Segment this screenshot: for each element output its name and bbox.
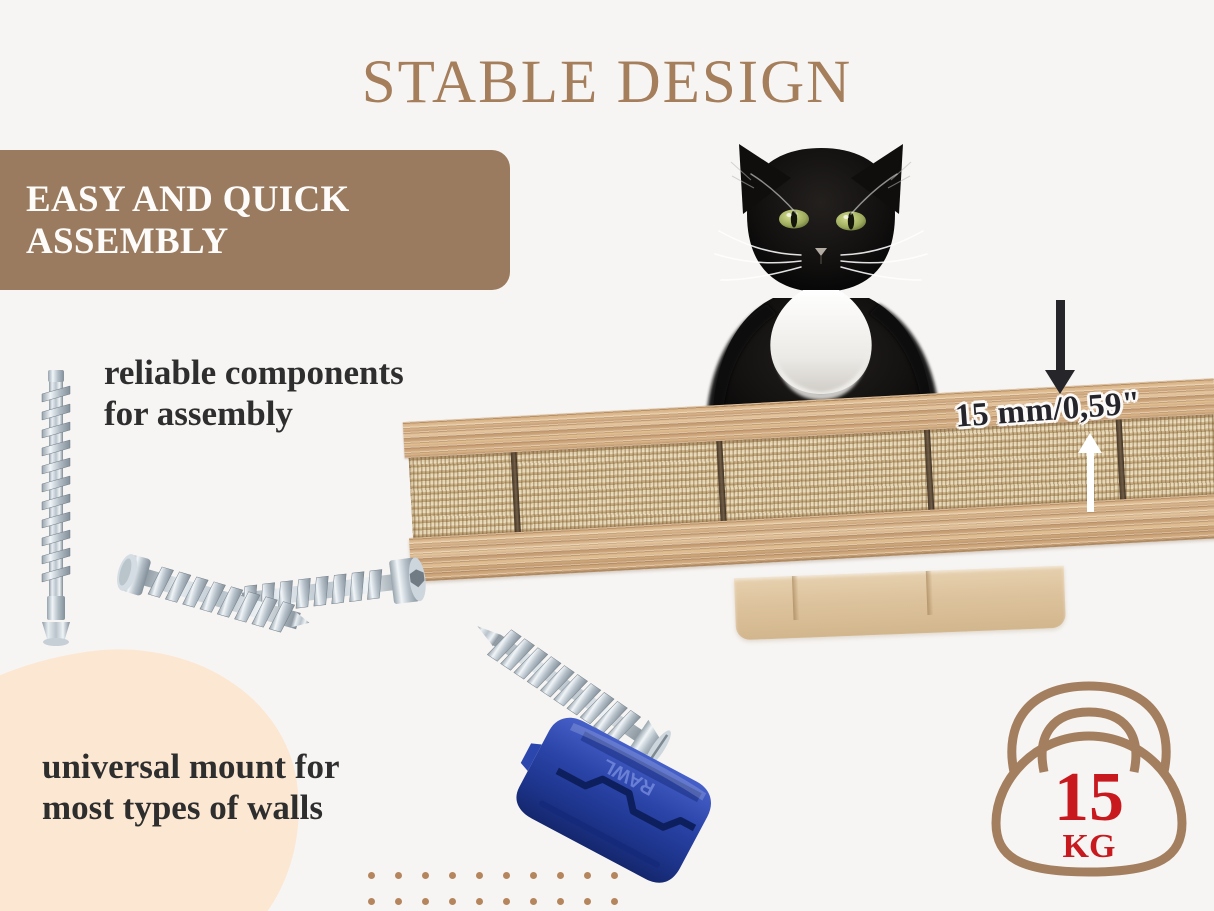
assembly-banner-text: EASY AND QUICK ASSEMBLY [26, 179, 350, 263]
dot [530, 898, 537, 905]
screw-horizontal-pan-head [93, 532, 319, 659]
product-infographic-poster: STABLE DESIGN EASY AND QUICK ASSEMBLY re… [0, 0, 1214, 911]
weight-capacity-badge: 15 KG [986, 668, 1192, 883]
dot [530, 872, 537, 879]
assembly-banner-line1: EASY AND QUICK [26, 179, 350, 220]
feature-caption-components-line2: for assembly [104, 394, 293, 433]
feature-caption-components: reliable components for assembly [104, 352, 404, 435]
dot [557, 872, 564, 879]
dot [395, 872, 402, 879]
assembly-banner: EASY AND QUICK ASSEMBLY [0, 150, 510, 290]
dot-grid-decoration [368, 872, 638, 911]
dot [584, 898, 591, 905]
dot [422, 872, 429, 879]
dot [476, 872, 483, 879]
dot [557, 898, 564, 905]
feature-caption-mount: universal mount for most types of walls [42, 746, 340, 829]
weight-value: 15 [1054, 759, 1124, 836]
page-title: STABLE DESIGN [0, 48, 1214, 118]
dot [368, 872, 375, 879]
anchor-body [509, 709, 720, 891]
feature-caption-components-line1: reliable components [104, 353, 404, 392]
dot [503, 872, 510, 879]
dot [611, 898, 618, 905]
dot [584, 872, 591, 879]
feature-caption-mount-line2: most types of walls [42, 788, 323, 827]
dot [368, 898, 375, 905]
screw-vertical [38, 360, 74, 650]
dot [395, 898, 402, 905]
dot [422, 898, 429, 905]
dot [503, 898, 510, 905]
weight-unit: KG [1063, 828, 1116, 865]
dot [449, 898, 456, 905]
thickness-arrow-up-icon [1087, 452, 1094, 512]
dot [476, 898, 483, 905]
dot [449, 872, 456, 879]
assembly-banner-line2: ASSEMBLY [26, 221, 229, 262]
feature-caption-mount-line1: universal mount for [42, 747, 340, 786]
thickness-arrow-down-icon [1056, 300, 1065, 372]
